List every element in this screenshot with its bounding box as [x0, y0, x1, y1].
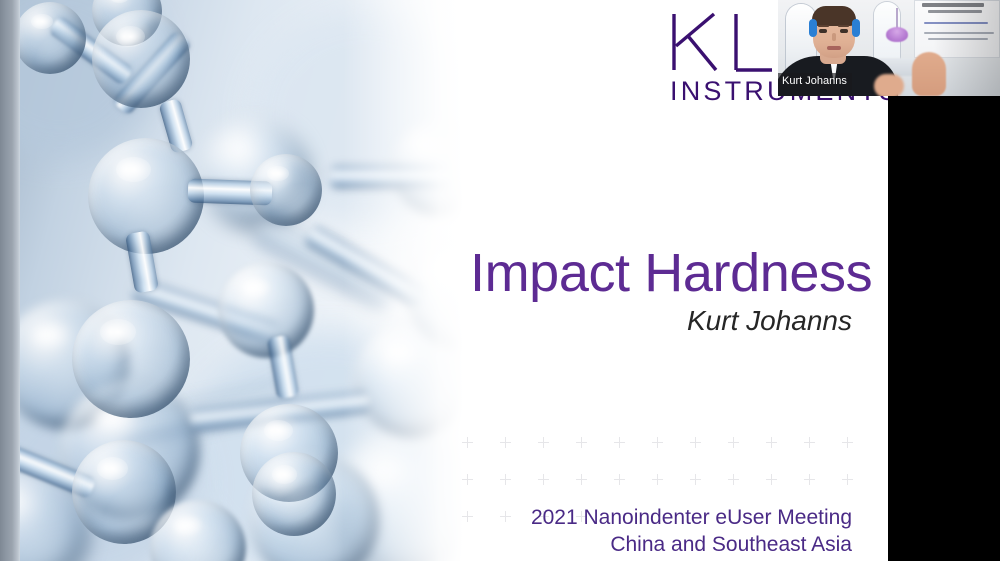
- slide-title: Impact Hardness: [470, 245, 852, 302]
- eye: [840, 29, 848, 33]
- plus-mark: [766, 474, 777, 485]
- plus-mark: [538, 437, 549, 448]
- nose: [832, 33, 836, 41]
- mouth: [827, 46, 841, 50]
- screen-share-view: INSTRUMENTS Impact Hardness Kurt Johanns: [0, 0, 1000, 561]
- plus-mark: [690, 437, 701, 448]
- participant-hair: [812, 6, 856, 26]
- plus-mark: [500, 437, 511, 448]
- plus-mark: [804, 474, 815, 485]
- plus-mark: [842, 474, 853, 485]
- slide-event-info: 2021 Nanoindenter eUser Meeting China an…: [460, 505, 852, 559]
- eye: [819, 29, 827, 33]
- plus-mark: [462, 437, 473, 448]
- plus-mark: [462, 474, 473, 485]
- participant-video-tile[interactable]: Kurt Johanns: [778, 0, 1000, 96]
- photo-fade-overlay: [343, 0, 463, 561]
- event-line-1: 2021 Nanoindenter eUser Meeting: [531, 506, 852, 529]
- slide-presenter-name: Kurt Johanns: [470, 305, 852, 337]
- plus-mark: [500, 474, 511, 485]
- plus-mark: [728, 474, 739, 485]
- plus-mark: [538, 474, 549, 485]
- molecular-model-photo: [0, 0, 463, 561]
- letterbox-right: [888, 96, 1000, 561]
- plus-mark: [614, 437, 625, 448]
- participant-name-label: Kurt Johanns: [778, 73, 852, 90]
- plus-mark: [576, 474, 587, 485]
- slide-left-edge-strip: [0, 0, 20, 561]
- eyebrow: [818, 25, 829, 27]
- headphone-icon: [852, 19, 860, 37]
- participant-hand: [912, 52, 946, 96]
- headphone-icon: [809, 19, 817, 37]
- plus-mark: [614, 474, 625, 485]
- presentation-slide: INSTRUMENTS Impact Hardness Kurt Johanns: [0, 0, 888, 561]
- plus-mark: [652, 474, 663, 485]
- plus-mark: [652, 437, 663, 448]
- plus-mark: [766, 437, 777, 448]
- plus-mark: [690, 474, 701, 485]
- event-line-2: China and Southeast Asia: [460, 532, 852, 559]
- plus-mark: [576, 437, 587, 448]
- participant-hand: [874, 74, 904, 96]
- plus-mark: [842, 437, 853, 448]
- plus-mark: [728, 437, 739, 448]
- plus-mark: [804, 437, 815, 448]
- eyebrow: [838, 25, 849, 27]
